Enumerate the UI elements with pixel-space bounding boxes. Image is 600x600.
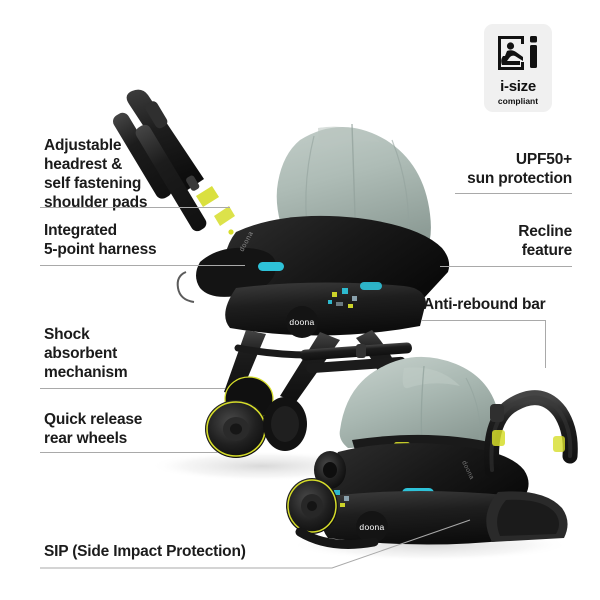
label-shock-absorbent: Shock absorbent mechanism — [44, 325, 214, 382]
svg-text:doona: doona — [460, 460, 475, 481]
child-car-seat-icon — [495, 33, 541, 73]
label-integrated-harness: Integrated 5-point harness — [44, 221, 224, 259]
anti-rebound-bar — [490, 398, 570, 470]
leader-rule-quick-release — [40, 452, 218, 453]
svg-text:doona: doona — [289, 317, 314, 327]
frame-base-upper: doona — [224, 282, 426, 402]
svg-text:doona: doona — [359, 522, 384, 532]
canopy-lower — [340, 357, 500, 458]
folded-wheels — [286, 451, 374, 544]
frame-base-lower: doona — [322, 490, 568, 545]
label-upf-sun-protection: UPF50+ sun protection — [382, 150, 572, 188]
label-side-impact-protection: SIP (Side Impact Protection) — [44, 542, 344, 561]
leader-rule-anti-rebound-horizontal — [422, 320, 546, 321]
badge-title: i-size — [500, 78, 536, 95]
label-quick-release: Quick release rear wheels — [44, 410, 224, 448]
label-recline-feature: Recline feature — [402, 222, 572, 260]
seat-shell-lower: doona — [327, 443, 529, 520]
leader-rule-anti-rebound-vertical — [545, 320, 546, 368]
leader-rule-integrated-harness — [40, 265, 245, 266]
infographic-canvas: doona doona — [0, 0, 600, 600]
i-size-compliant-badge: i-size compliant — [484, 24, 552, 112]
svg-text:doona: doona — [239, 230, 255, 253]
leader-rule-recline-feature — [440, 266, 572, 267]
front-wheel-assembly — [402, 384, 434, 445]
leader-rule-shock-absorbent — [40, 388, 225, 389]
label-adjustable-headrest: Adjustable headrest & self fastening sho… — [44, 136, 214, 212]
leader-rule-upf-sun-protection — [455, 193, 572, 194]
folded-handle-bars — [300, 342, 412, 373]
carseat-mode-unit: doona doona — [286, 342, 570, 561]
badge-subtitle: compliant — [498, 96, 538, 106]
leader-rule-adjustable-headrest — [40, 207, 230, 208]
label-anti-rebound-bar: Anti-rebound bar — [423, 295, 600, 314]
